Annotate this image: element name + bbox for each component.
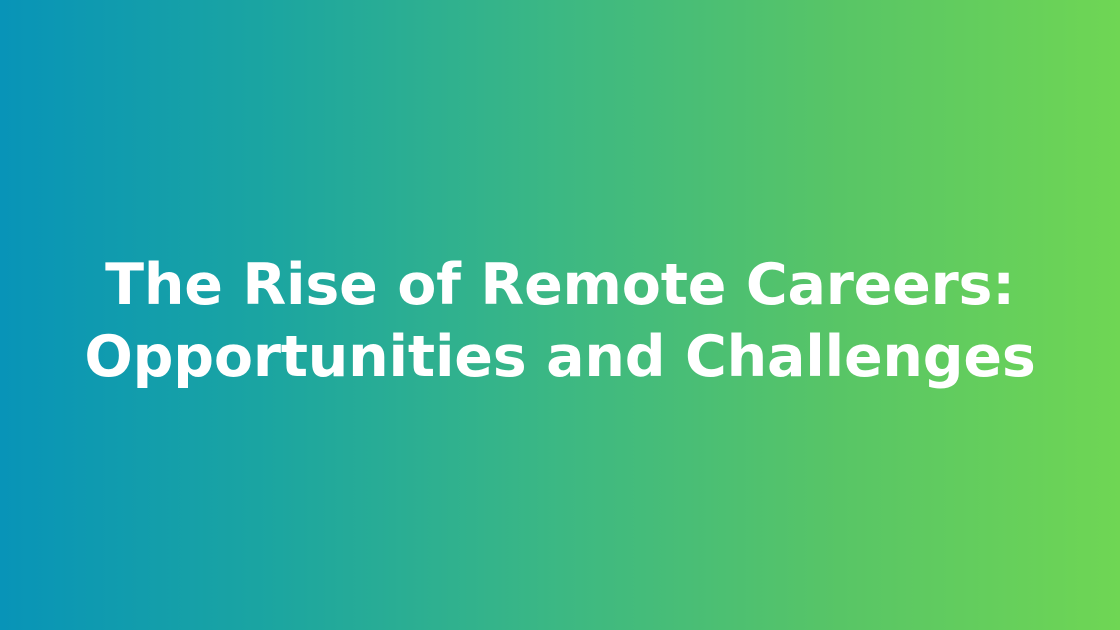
title-line-1: The Rise of Remote Careers: xyxy=(60,249,1060,321)
title-slide: The Rise of Remote Careers: Opportunitie… xyxy=(0,0,1120,630)
slide-title: The Rise of Remote Careers: Opportunitie… xyxy=(0,249,1120,393)
title-line-2: Opportunities and Challenges xyxy=(60,321,1060,393)
